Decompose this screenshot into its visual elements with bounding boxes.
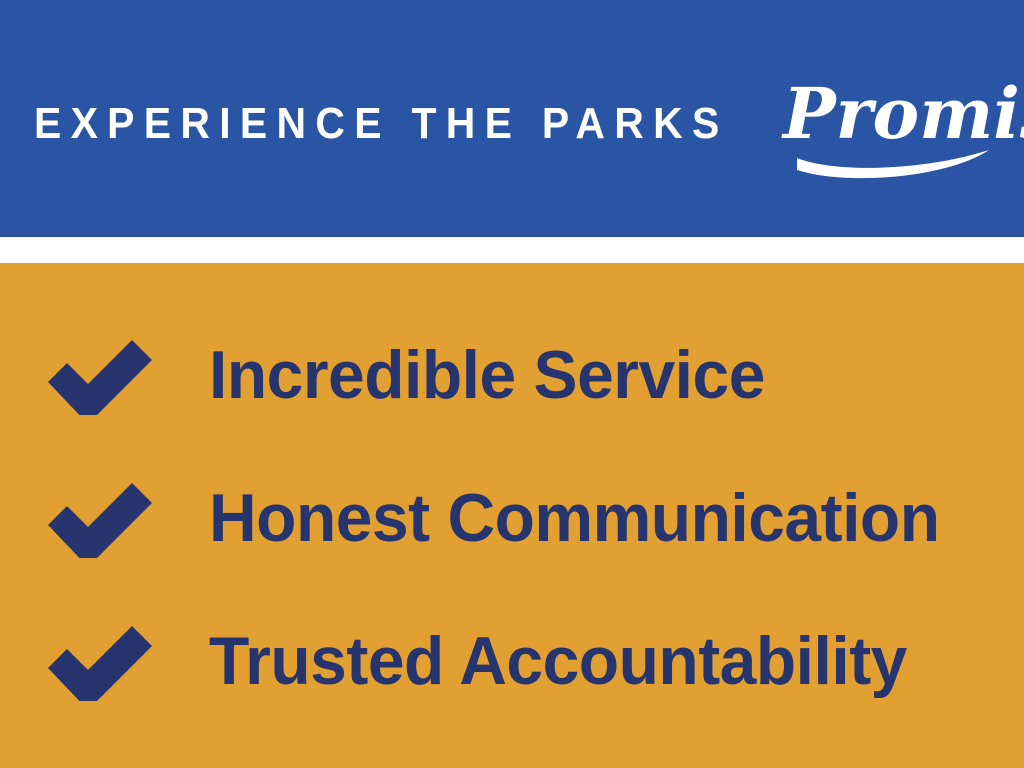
body-band: Incredible Service Honest Communication … xyxy=(0,263,1024,768)
header-band: EXPERIENCE THE PARKS Promise xyxy=(0,0,1024,237)
promise-poster: EXPERIENCE THE PARKS Promise Incredible … xyxy=(0,0,1024,768)
script-promise-text: Promise xyxy=(781,72,1024,155)
checkmark-icon xyxy=(48,335,152,415)
separator-stripe xyxy=(0,237,1024,263)
promise-label: Trusted Accountability xyxy=(209,627,907,695)
promise-label: Incredible Service xyxy=(209,341,765,409)
checkmark-icon xyxy=(48,478,152,558)
headline-text: EXPERIENCE THE PARKS xyxy=(34,102,729,146)
list-item: Trusted Accountability xyxy=(0,589,1024,732)
script-promise-wordmark: Promise xyxy=(777,66,1017,176)
list-item: Incredible Service xyxy=(0,303,1024,446)
script-promise-svg: Promise xyxy=(777,66,1017,176)
list-item: Honest Communication xyxy=(0,446,1024,589)
promise-list: Incredible Service Honest Communication … xyxy=(0,263,1024,768)
header-content: EXPERIENCE THE PARKS Promise xyxy=(34,0,1024,237)
promise-label: Honest Communication xyxy=(209,484,940,552)
checkmark-icon xyxy=(48,621,152,701)
